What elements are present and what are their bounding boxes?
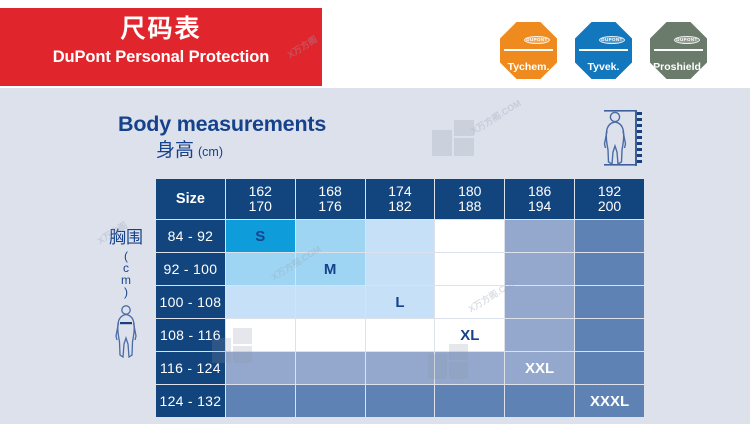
chest-label-chinese: 胸围: [109, 228, 143, 248]
cell-r6c6[interactable]: XXXL: [575, 385, 644, 417]
cell-r2c2[interactable]: M: [296, 253, 365, 285]
cell-r4c5[interactable]: [505, 319, 574, 351]
col-header-bottom: 200: [575, 199, 644, 214]
body-height-ruler-icon: [588, 106, 650, 170]
cell-r3c6[interactable]: [575, 286, 644, 318]
cell-r1c5[interactable]: [505, 220, 574, 252]
divider-rule: [654, 49, 703, 51]
body-chest-measure-icon: [109, 303, 143, 359]
column-header-5: 186 194: [505, 179, 574, 219]
cell-r5c1[interactable]: [226, 352, 295, 384]
dupont-mark-icon: DUPONT: [674, 36, 700, 44]
cell-r1c1[interactable]: S: [226, 220, 295, 252]
axis-label-chest: 胸围 (cm): [100, 228, 152, 359]
corner-header-size: Size: [156, 179, 225, 219]
cell-r3c2[interactable]: [296, 286, 365, 318]
cell-r4c3[interactable]: [366, 319, 435, 351]
heading-chinese-unit: (cm): [198, 145, 223, 159]
table-row: 108 - 116 XL: [156, 319, 644, 351]
cell-r5c6[interactable]: [575, 352, 644, 384]
cell-r2c3[interactable]: [366, 253, 435, 285]
cell-r6c3[interactable]: [366, 385, 435, 417]
col-header-bottom: 188: [435, 199, 504, 214]
row-header-2: 92 - 100: [156, 253, 225, 285]
brand-label-tyvek: Tyvek.: [588, 62, 620, 73]
cell-r4c2[interactable]: [296, 319, 365, 351]
table-body: 84 - 92 S 92 - 100 M 100 - 108 L: [156, 220, 644, 417]
heading-chinese: 身高: [156, 141, 194, 162]
col-header-bottom: 182: [366, 199, 435, 214]
col-header-top: 186: [505, 184, 574, 199]
cell-r2c6[interactable]: [575, 253, 644, 285]
cell-r3c1[interactable]: [226, 286, 295, 318]
brand-logo-proshield[interactable]: DUPONT Proshield.: [650, 22, 707, 79]
row-header-5: 116 - 124: [156, 352, 225, 384]
cell-r5c2[interactable]: [296, 352, 365, 384]
col-header-top: 174: [366, 184, 435, 199]
cell-r1c2[interactable]: [296, 220, 365, 252]
brand-label-proshield: Proshield.: [653, 62, 704, 73]
banner-en-title: DuPont Personal Protection: [0, 48, 322, 66]
col-header-bottom: 194: [505, 199, 574, 214]
heading-chinese-row: 身高 (cm): [156, 141, 538, 162]
cell-r3c4[interactable]: [435, 286, 504, 318]
brand-logo-tychem[interactable]: DUPONT Tychem.: [500, 22, 557, 79]
cell-r4c4[interactable]: XL: [435, 319, 504, 351]
table-row: 116 - 124 XXL: [156, 352, 644, 384]
table-row: 92 - 100 M: [156, 253, 644, 285]
cell-r6c1[interactable]: [226, 385, 295, 417]
cell-r5c4[interactable]: [435, 352, 504, 384]
row-header-6: 124 - 132: [156, 385, 225, 417]
row-header-4: 108 - 116: [156, 319, 225, 351]
dupont-mark-icon: DUPONT: [599, 36, 625, 44]
cell-r3c5[interactable]: [505, 286, 574, 318]
chart-heading: Body measurements 身高 (cm): [118, 113, 538, 162]
brand-label-tychem: Tychem.: [508, 62, 550, 73]
brand-logo-tyvek[interactable]: DUPONT Tyvek.: [575, 22, 632, 79]
heading-english: Body measurements: [118, 113, 538, 137]
cell-r4c6[interactable]: [575, 319, 644, 351]
col-header-top: 162: [226, 184, 295, 199]
cell-r5c3[interactable]: [366, 352, 435, 384]
cell-r1c6[interactable]: [575, 220, 644, 252]
table-row: 84 - 92 S: [156, 220, 644, 252]
cell-r2c1[interactable]: [226, 253, 295, 285]
table-header-row: Size 162 170 168 176 174 182 180 188 186…: [156, 179, 644, 219]
row-header-3: 100 - 108: [156, 286, 225, 318]
table-row: 100 - 108 L: [156, 286, 644, 318]
col-header-top: 192: [575, 184, 644, 199]
col-header-bottom: 170: [226, 199, 295, 214]
cell-r2c5[interactable]: [505, 253, 574, 285]
col-header-top: 180: [435, 184, 504, 199]
column-header-4: 180 188: [435, 179, 504, 219]
column-header-1: 162 170: [226, 179, 295, 219]
column-header-6: 192 200: [575, 179, 644, 219]
title-banner: 尺码表 DuPont Personal Protection: [0, 8, 322, 86]
cell-r5c5[interactable]: XXL: [505, 352, 574, 384]
cell-r6c4[interactable]: [435, 385, 504, 417]
divider-rule: [504, 49, 553, 51]
column-header-2: 168 176: [296, 179, 365, 219]
cell-r6c5[interactable]: [505, 385, 574, 417]
divider-rule: [579, 49, 628, 51]
size-chart-table: Size 162 170 168 176 174 182 180 188 186…: [155, 178, 645, 418]
banner-cn-title: 尺码表: [0, 16, 322, 44]
cell-r2c4[interactable]: [435, 253, 504, 285]
cell-r1c3[interactable]: [366, 220, 435, 252]
brand-logo-group: DUPONT Tychem. DUPONT Tyvek. DUPONT Pros…: [500, 22, 707, 79]
col-header-top: 168: [296, 184, 365, 199]
table-row: 124 - 132 XXXL: [156, 385, 644, 417]
chest-label-unit: (cm): [119, 249, 133, 297]
cell-r4c1[interactable]: [226, 319, 295, 351]
col-header-bottom: 176: [296, 199, 365, 214]
cell-r6c2[interactable]: [296, 385, 365, 417]
row-header-1: 84 - 92: [156, 220, 225, 252]
dupont-mark-icon: DUPONT: [524, 36, 550, 44]
column-header-3: 174 182: [366, 179, 435, 219]
cell-r3c3[interactable]: L: [366, 286, 435, 318]
cell-r1c4[interactable]: [435, 220, 504, 252]
